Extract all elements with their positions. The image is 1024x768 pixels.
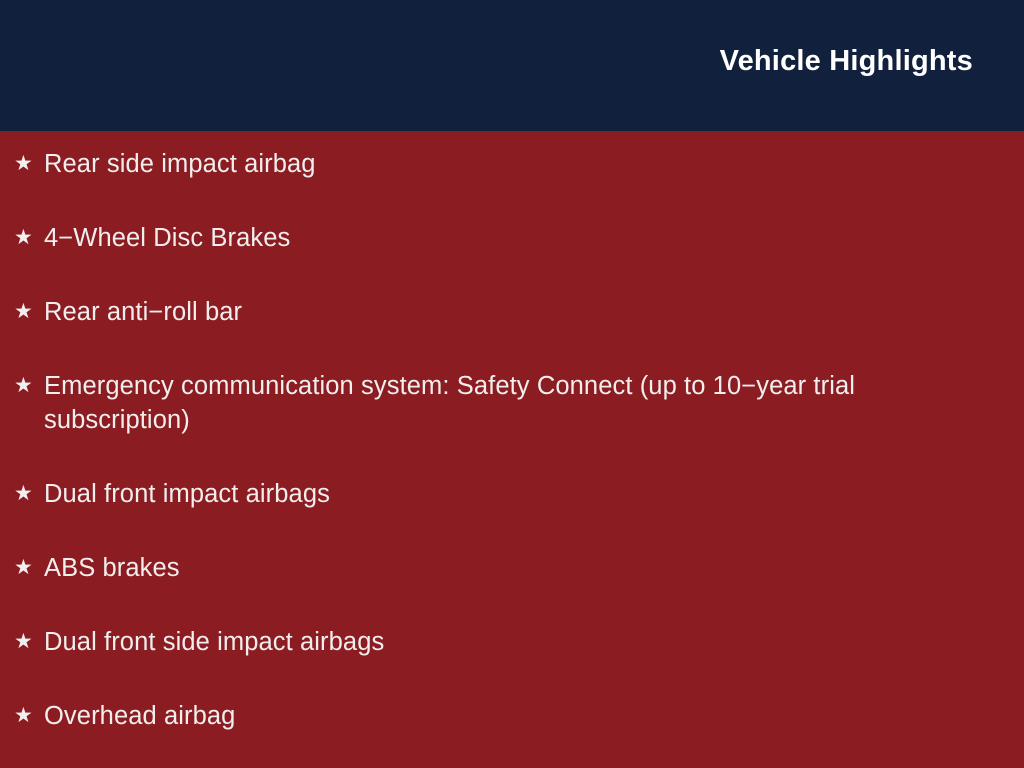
list-item-label: 4−Wheel Disc Brakes [44,221,954,255]
list-item-label: Dual front side impact airbags [44,625,954,659]
star-icon: ★ [14,625,44,659]
star-icon: ★ [14,551,44,585]
page-title: Vehicle Highlights [720,46,973,78]
star-icon: ★ [14,699,44,733]
star-icon: ★ [14,147,44,181]
list-item: ★ Dual front impact airbags [14,477,984,511]
list-item: ★ ABS brakes [14,551,984,585]
vehicle-highlights-slide: Vehicle Highlights ★ Rear side impact ai… [0,0,1024,768]
star-icon: ★ [14,477,44,511]
list-item: ★ Emergency communication system: Safety… [14,369,984,437]
list-item: ★ Rear anti−roll bar [14,295,984,329]
list-item-label: Overhead airbag [44,699,954,733]
list-item: ★ Rear side impact airbag [14,147,984,181]
list-item: ★ 4−Wheel Disc Brakes [14,221,984,255]
list-item-label: Rear side impact airbag [44,147,954,181]
list-item: ★ Dual front side impact airbags [14,625,984,659]
star-icon: ★ [14,221,44,255]
list-item: ★ Overhead airbag [14,699,984,733]
list-item-label: Rear anti−roll bar [44,295,954,329]
star-icon: ★ [14,369,44,403]
slide-header: Vehicle Highlights [0,0,1024,131]
list-item-label: ABS brakes [44,551,954,585]
feature-list: ★ Rear side impact airbag ★ 4−Wheel Disc… [0,131,1024,768]
list-item-label: Emergency communication system: Safety C… [44,369,954,437]
list-item-label: Dual front impact airbags [44,477,954,511]
star-icon: ★ [14,295,44,329]
